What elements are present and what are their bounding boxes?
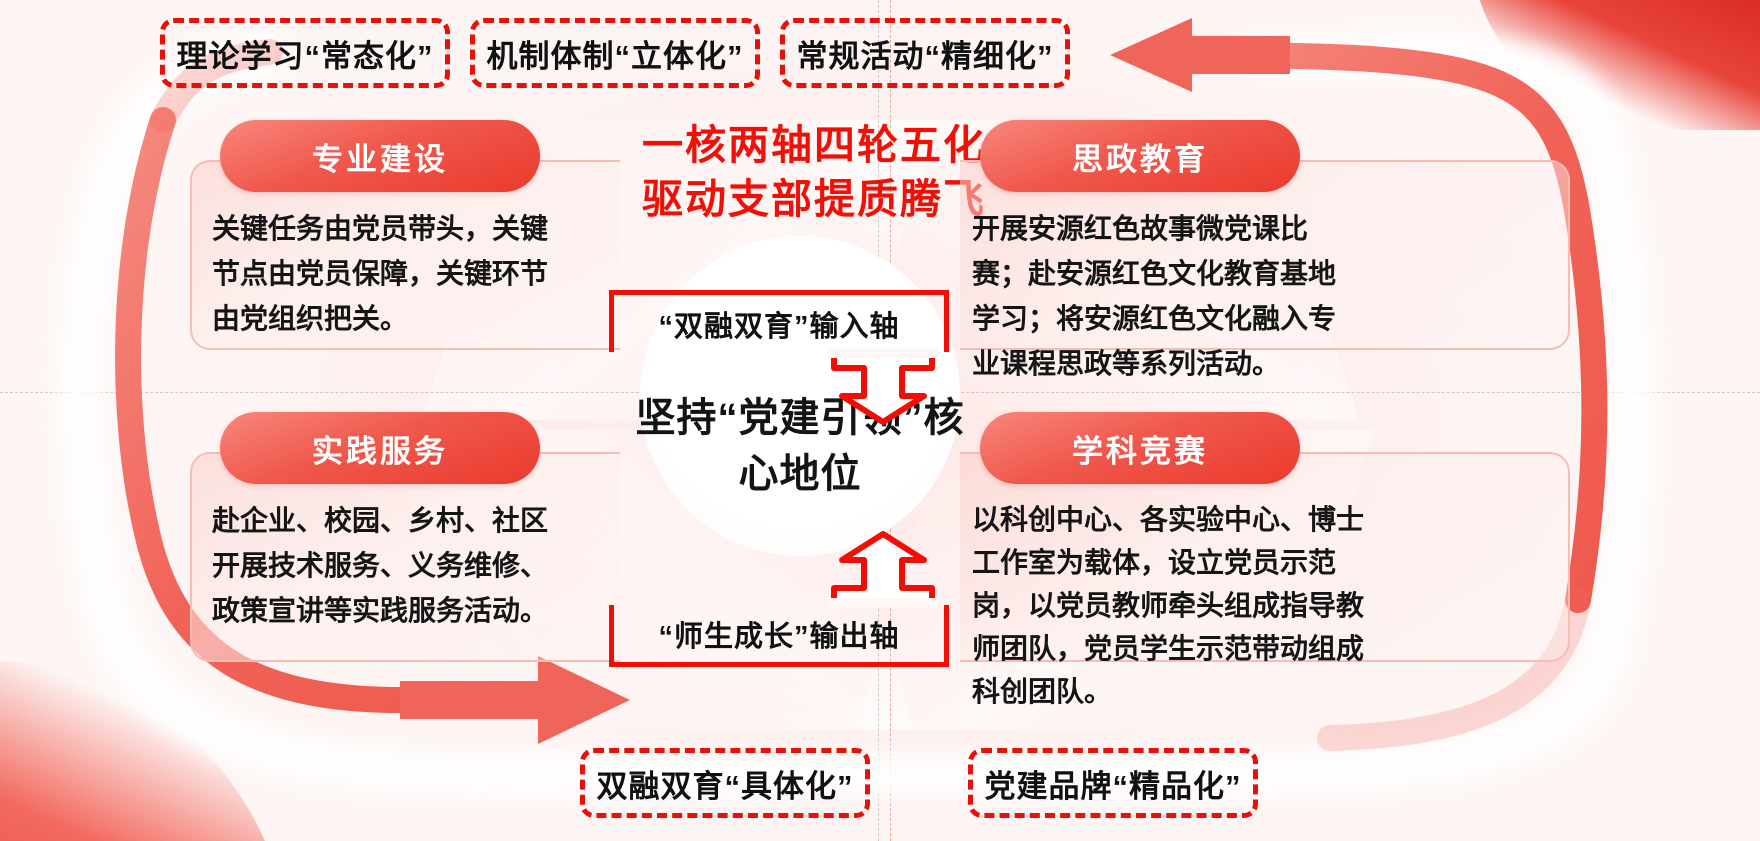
axis-input-box[interactable]: “双融双育”输入轴 [609, 290, 949, 352]
card-text: 以科创中心、各实验中心、博士工作室为载体，设立党员示范岗，以党员教师牵头组成指导… [972, 498, 1372, 713]
card-text: 关键任务由党员带头，关键节点由党员保障，关键环节由党组织把关。 [212, 206, 552, 341]
card-zhuanye-jianshe[interactable]: 专业建设 关键任务由党员带头，关键节点由党员保障，关键环节由党组织把关。 [190, 120, 620, 350]
arrow-right-icon [400, 656, 630, 744]
card-title-pill: 专业建设 [220, 120, 540, 192]
card-title: 学科竞赛 [1072, 426, 1208, 471]
arrow-left-icon [1110, 18, 1290, 92]
diagram-canvas: 理论学习“常态化” 机制体制“立体化” 常规活动“精细化” 双融双育“具体化” … [0, 0, 1760, 841]
axis-input-label: “双融双育”输入轴 [658, 303, 899, 345]
card-xueke-jingsai[interactable]: 学科竞赛 以科创中心、各实验中心、博士工作室为载体，设立党员示范岗，以党员教师牵… [1140, 412, 1570, 662]
card-title-pill: 学科竞赛 [980, 412, 1300, 484]
card-title: 专业建设 [312, 134, 448, 179]
tag-bottom-2[interactable]: 党建品牌“精品化” [968, 748, 1258, 818]
axis-output-box[interactable]: “师生成长”输出轴 [609, 605, 949, 667]
tag-bottom-2-label: 党建品牌“精品化” [981, 761, 1246, 806]
card-text: 开展安源红色故事微党课比赛；赴安源红色文化教育基地学习；将安源红色文化融入专业课… [972, 206, 1352, 386]
tag-top-2[interactable]: 机制体制“立体化” [470, 18, 760, 88]
card-sizheng-jiaoyu[interactable]: 思政教育 开展安源红色故事微党课比赛；赴安源红色文化教育基地学习；将安源红色文化… [1140, 120, 1570, 350]
tag-top-1-label: 理论学习“常态化” [173, 31, 438, 76]
card-shijian-fuwu[interactable]: 实践服务 赴企业、校园、乡村、社区开展技术服务、义务维修、政策宣讲等实践服务活动… [190, 412, 620, 662]
card-title-pill: 实践服务 [220, 412, 540, 484]
card-title: 思政教育 [1072, 134, 1208, 179]
arrow-down-icon [828, 348, 938, 426]
arrow-up-icon [828, 530, 938, 608]
page-title-line-1: 一核两轴四轮五化 [614, 118, 1014, 172]
tag-top-2-label: 机制体制“立体化” [483, 31, 748, 76]
tag-top-3[interactable]: 常规活动“精细化” [780, 18, 1070, 88]
tag-top-1[interactable]: 理论学习“常态化” [160, 18, 450, 88]
card-text: 赴企业、校园、乡村、社区开展技术服务、义务维修、政策宣讲等实践服务活动。 [212, 498, 552, 633]
card-title: 实践服务 [312, 426, 448, 471]
card-title-pill: 思政教育 [980, 120, 1300, 192]
page-title-line-2: 驱动支部提质腾飞 [614, 172, 1014, 226]
page-title: 一核两轴四轮五化 驱动支部提质腾飞 [614, 118, 1014, 226]
tag-top-3-label: 常规活动“精细化” [793, 31, 1058, 76]
tag-bottom-1[interactable]: 双融双育“具体化” [580, 748, 870, 818]
axis-output-label: “师生成长”输出轴 [658, 613, 899, 655]
tag-bottom-1-label: 双融双育“具体化” [593, 761, 858, 806]
